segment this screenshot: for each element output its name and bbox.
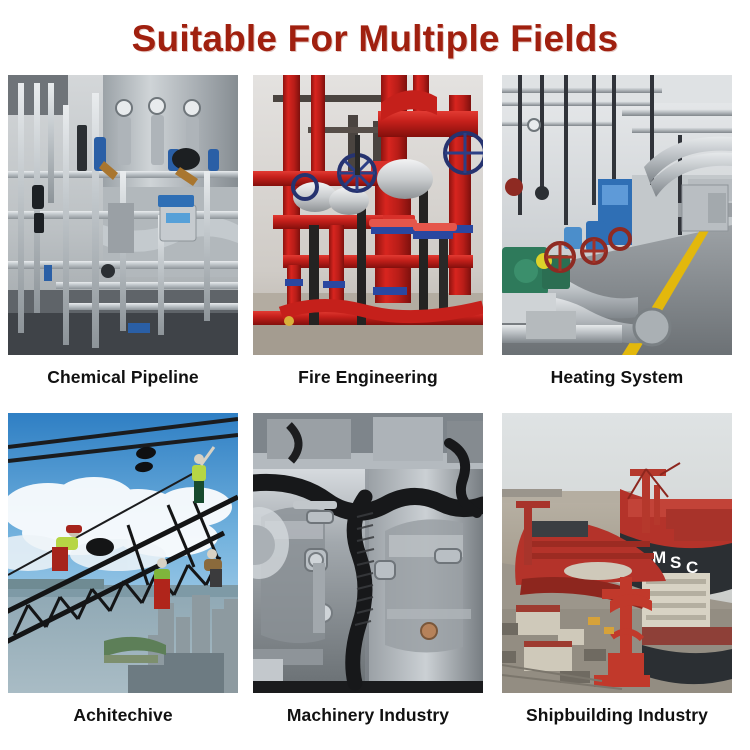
promotional-banner: Suitable For Multiple Fields [0,0,750,750]
machinery-industry-photo [253,413,483,693]
svg-text:S: S [670,553,681,572]
heating-system-photo [502,75,732,355]
gallery-item-caption: Fire Engineering [253,367,483,388]
page-title: Suitable For Multiple Fields [0,18,750,60]
gallery-item-caption: Machinery Industry [253,705,483,726]
gallery-item-caption: Chemical Pipeline [8,367,238,388]
gallery-item-heating-system[interactable]: Heating System [502,75,732,388]
gallery-item-shipbuilding-industry[interactable]: MSC [502,413,732,726]
gallery-item-chemical-pipeline[interactable]: Chemical Pipeline [8,75,238,388]
gallery-item-caption: Heating System [502,367,732,388]
shipbuilding-industry-photo: MSC [502,413,732,693]
gallery-item-caption: Shipbuilding Industry [502,705,732,726]
gallery-item-machinery-industry[interactable]: Machinery Industry [253,413,483,726]
fire-engineering-photo [253,75,483,355]
architecture-photo [8,413,238,693]
gallery-item-fire-engineering[interactable]: Fire Engineering [253,75,483,388]
chemical-pipeline-photo [8,75,238,355]
gallery-item-caption: Achitechive [8,705,238,726]
application-gallery: Chemical Pipeline [8,75,744,735]
gallery-item-architecture[interactable]: Achitechive [8,413,238,726]
